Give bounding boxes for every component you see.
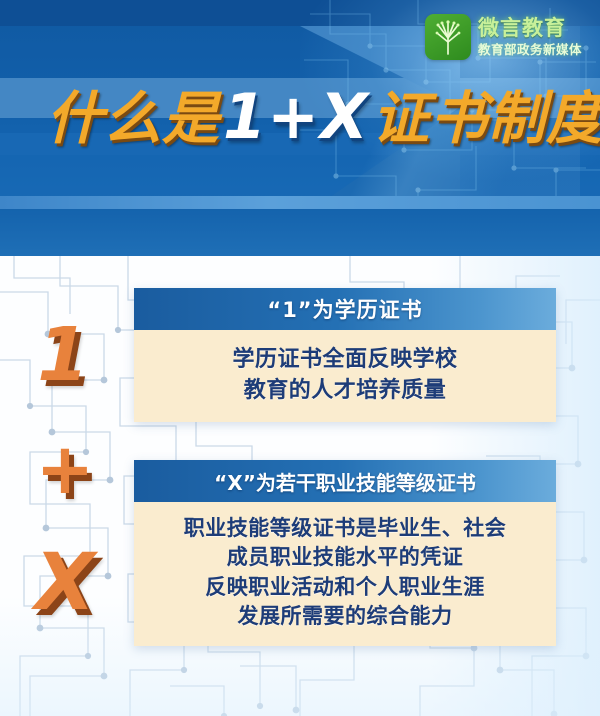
logo-title: 微言教育 [478, 18, 582, 39]
logo-subtitle: 教育部政务新媒体 [478, 44, 582, 57]
card-body-line: 职业技能等级证书是毕业生、社会 [142, 514, 548, 543]
card-body-line: 教育的人才培养质量 [144, 375, 546, 406]
card-header: “X”为若干职业技能等级证书 [134, 460, 556, 502]
banner-stripe-light [0, 196, 600, 209]
title-part-1: 什么是 [46, 86, 220, 152]
brand-logo[interactable]: 微言教育 教育部政务新媒体 [425, 14, 582, 60]
card-body-line: 学历证书全面反映学校 [144, 344, 546, 375]
page-title: 什么是1+X证书制度？ [46, 86, 600, 148]
left-formula-column: 1 + X [0, 318, 130, 622]
title-part-2: 证书制度 [372, 86, 600, 152]
card-body: 学历证书全面反映学校 教育的人才培养质量 [134, 330, 556, 422]
card-header-label: “1”为学历证书 [267, 294, 422, 324]
plus-sign-3d-icon: + [0, 434, 130, 504]
card-body: 职业技能等级证书是毕业生、社会 成员职业技能水平的凭证 反映职业活动和个人职业生… [134, 502, 556, 646]
header-banner: 微言教育 教育部政务新媒体 什么是1+X证书制度？ [0, 0, 600, 256]
digit-one-3d-icon: 1 [0, 318, 130, 392]
card-academic-certificate: “1”为学历证书 学历证书全面反映学校 教育的人才培养质量 [134, 288, 556, 422]
card-body-line: 反映职业活动和个人职业生涯 [142, 573, 548, 602]
card-vocational-skill-certificate: “X”为若干职业技能等级证书 职业技能等级证书是毕业生、社会 成员职业技能水平的… [134, 460, 556, 646]
card-header-label: “X”为若干职业技能等级证书 [214, 467, 476, 496]
banner-stripe-dark [0, 209, 600, 256]
infographic-page: 微言教育 教育部政务新媒体 什么是1+X证书制度？ [0, 0, 600, 716]
green-sprout-logo-icon [425, 14, 471, 60]
card-header: “1”为学历证书 [134, 288, 556, 330]
card-body-line: 发展所需要的综合能力 [142, 602, 548, 631]
content-area: 1 + X “1”为学历证书 学历证书全面反映学校 教育的人才培养质量 “X”为… [0, 256, 600, 716]
card-body-line: 成员职业技能水平的凭证 [142, 543, 548, 572]
letter-x-3d-icon: X [0, 544, 130, 622]
title-highlight-1plusx: 1+X [220, 80, 372, 153]
